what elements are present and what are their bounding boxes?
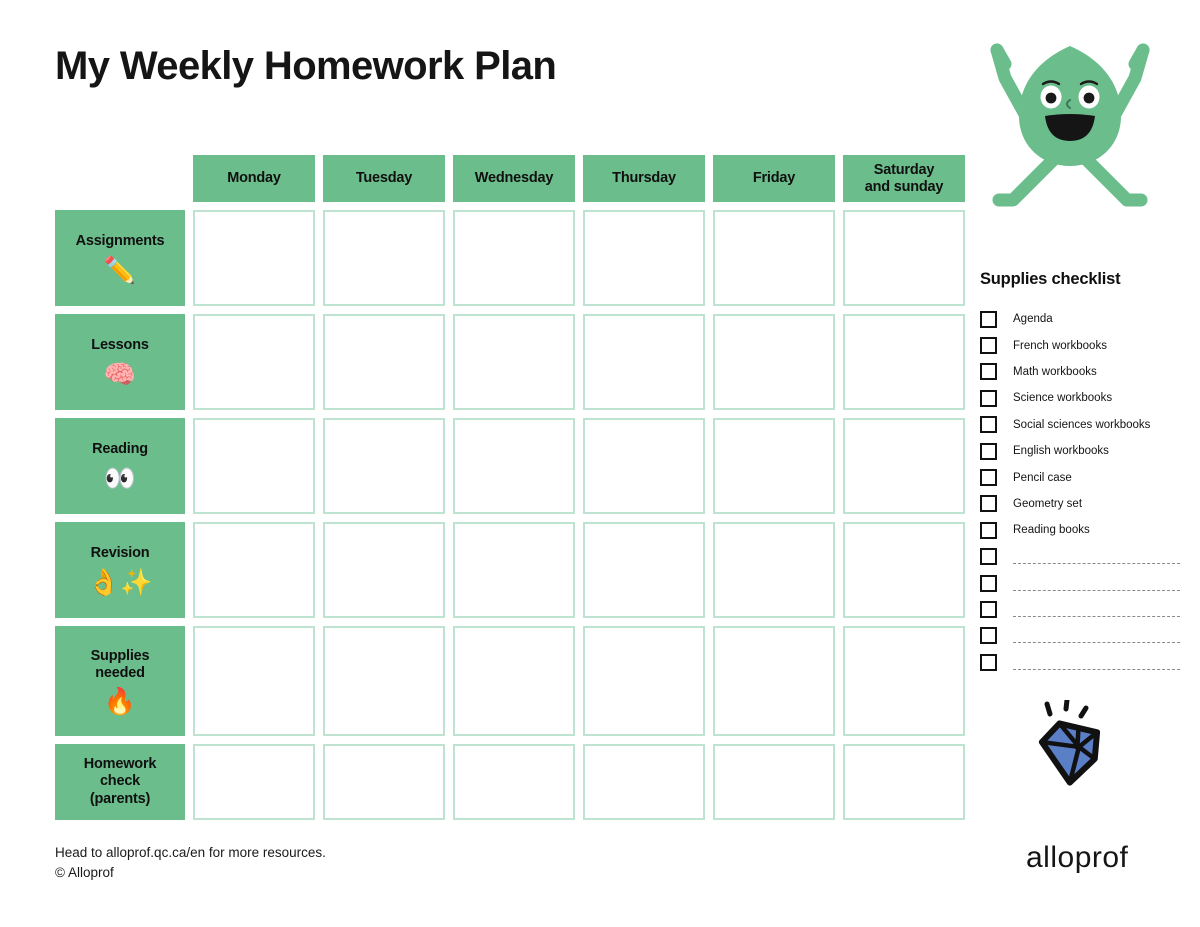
diamond-gem-icon xyxy=(1022,700,1122,795)
row-label-text: Revision xyxy=(91,545,150,562)
planner-cell[interactable] xyxy=(843,626,965,736)
checklist-title: Supplies checklist xyxy=(980,270,1180,289)
checkbox-icon[interactable] xyxy=(980,548,997,565)
planner-cell[interactable] xyxy=(713,744,835,820)
planner-cell[interactable] xyxy=(323,418,445,514)
ok-hand-sparkles-emoji: 👌✨ xyxy=(88,569,153,595)
planner-row-revision: Revision 👌✨ xyxy=(55,522,965,618)
row-label-lessons: Lessons 🧠 xyxy=(55,314,185,410)
day-header-weekend: Saturdayand sunday xyxy=(843,155,965,202)
checklist-item-blank[interactable] xyxy=(980,570,1180,596)
planner-cell[interactable] xyxy=(583,418,705,514)
diamond-decoration xyxy=(1022,700,1122,795)
checklist-item-label: English workbooks xyxy=(1013,445,1109,457)
checklist-item-label: Agenda xyxy=(1013,313,1053,325)
planner-cell[interactable] xyxy=(713,522,835,618)
planner-cell[interactable] xyxy=(843,314,965,410)
planner-cell[interactable] xyxy=(583,626,705,736)
alloprof-wordmark-icon: alloprof xyxy=(1026,838,1162,878)
row-label-text: Lessons xyxy=(91,337,148,354)
checkbox-icon[interactable] xyxy=(980,601,997,618)
planner-cell[interactable] xyxy=(323,744,445,820)
row-label-revision: Revision 👌✨ xyxy=(55,522,185,618)
checkbox-icon[interactable] xyxy=(980,311,997,328)
checklist-item-label: Reading books xyxy=(1013,524,1090,536)
checklist-item-geometry-set[interactable]: Geometry set xyxy=(980,491,1180,517)
day-header-monday: Monday xyxy=(193,155,315,202)
write-in-line[interactable] xyxy=(1013,642,1180,643)
mascot-icon xyxy=(975,28,1165,213)
planner-cell[interactable] xyxy=(193,626,315,736)
checklist-item-blank[interactable] xyxy=(980,649,1180,675)
row-label-supplies-needed: Suppliesneeded 🔥 xyxy=(55,626,185,736)
write-in-line[interactable] xyxy=(1013,563,1180,564)
planner-cell[interactable] xyxy=(323,210,445,306)
day-header-label: Wednesday xyxy=(475,170,554,187)
checklist-item-agenda[interactable]: Agenda xyxy=(980,306,1180,332)
planner-cell[interactable] xyxy=(323,522,445,618)
planner-row-supplies-needed: Suppliesneeded 🔥 xyxy=(55,626,965,736)
logo-text: alloprof xyxy=(1026,841,1129,874)
checkbox-icon[interactable] xyxy=(980,522,997,539)
checklist-item-label: Geometry set xyxy=(1013,498,1082,510)
planner-cell[interactable] xyxy=(713,418,835,514)
planner-cell[interactable] xyxy=(193,314,315,410)
planner-cell[interactable] xyxy=(713,626,835,736)
planner-cell[interactable] xyxy=(193,744,315,820)
checklist-item-label: Math workbooks xyxy=(1013,366,1097,378)
checklist-item-english-workbooks[interactable]: English workbooks xyxy=(980,438,1180,464)
checklist-item-french-workbooks[interactable]: French workbooks xyxy=(980,332,1180,358)
checklist-item-label: Social sciences workbooks xyxy=(1013,419,1150,431)
checklist-item-label: French workbooks xyxy=(1013,340,1107,352)
checkbox-icon[interactable] xyxy=(980,469,997,486)
checklist-item-blank[interactable] xyxy=(980,623,1180,649)
planner-cell[interactable] xyxy=(193,210,315,306)
planner-cell[interactable] xyxy=(843,418,965,514)
day-header-label: Tuesday xyxy=(356,170,412,187)
planner-cell[interactable] xyxy=(453,626,575,736)
checklist-item-blank[interactable] xyxy=(980,596,1180,622)
checkbox-icon[interactable] xyxy=(980,363,997,380)
checkbox-icon[interactable] xyxy=(980,495,997,512)
planner-cell[interactable] xyxy=(583,314,705,410)
planner-cell[interactable] xyxy=(453,314,575,410)
checklist-item-label: Science workbooks xyxy=(1013,392,1112,404)
planner-cell[interactable] xyxy=(843,522,965,618)
planner-cell[interactable] xyxy=(843,744,965,820)
checkbox-icon[interactable] xyxy=(980,337,997,354)
row-label-text: Assignments xyxy=(76,233,165,250)
checkbox-icon[interactable] xyxy=(980,654,997,671)
page-title: My Weekly Homework Plan xyxy=(55,44,556,89)
planner-header-row: Monday Tuesday Wednesday Thursday Friday… xyxy=(55,155,965,202)
checklist-item-reading-books[interactable]: Reading books xyxy=(980,517,1180,543)
planner-cell[interactable] xyxy=(453,522,575,618)
planner-cell[interactable] xyxy=(193,522,315,618)
planner-row-assignments: Assignments ✏️ xyxy=(55,210,965,306)
checkbox-icon[interactable] xyxy=(980,390,997,407)
write-in-line[interactable] xyxy=(1013,590,1180,591)
checkbox-icon[interactable] xyxy=(980,627,997,644)
day-header-label: Monday xyxy=(227,170,281,187)
weekly-planner-grid: Monday Tuesday Wednesday Thursday Friday… xyxy=(55,155,965,828)
row-label-assignments: Assignments ✏️ xyxy=(55,210,185,306)
footer: Head to alloprof.qc.ca/en for more resou… xyxy=(55,843,326,882)
planner-cell[interactable] xyxy=(323,626,445,736)
checklist-item-pencil-case[interactable]: Pencil case xyxy=(980,464,1180,490)
write-in-line[interactable] xyxy=(1013,669,1180,670)
planner-cell[interactable] xyxy=(583,744,705,820)
footer-line-copyright: © Alloprof xyxy=(55,863,326,883)
checklist-item-label: Pencil case xyxy=(1013,472,1072,484)
row-label-reading: Reading 👀 xyxy=(55,418,185,514)
planner-cell[interactable] xyxy=(713,314,835,410)
supplies-checklist: Supplies checklist Agenda French workboo… xyxy=(980,270,1180,675)
day-header-friday: Friday xyxy=(713,155,835,202)
fire-emoji: 🔥 xyxy=(104,688,136,714)
day-header-wednesday: Wednesday xyxy=(453,155,575,202)
day-header-thursday: Thursday xyxy=(583,155,705,202)
pencil-emoji: ✏️ xyxy=(104,257,136,283)
planner-cell[interactable] xyxy=(713,210,835,306)
planner-cell[interactable] xyxy=(323,314,445,410)
brain-emoji: 🧠 xyxy=(104,361,136,387)
day-header-label: Saturdayand sunday xyxy=(865,162,944,195)
row-label-text: Suppliesneeded xyxy=(91,648,150,682)
planner-cell[interactable] xyxy=(193,418,315,514)
planner-cell[interactable] xyxy=(843,210,965,306)
row-label-homework-check: Homeworkcheck(parents) xyxy=(55,744,185,820)
checklist-item-social-sciences-workbooks[interactable]: Social sciences workbooks xyxy=(980,412,1180,438)
day-header-label: Thursday xyxy=(612,170,676,187)
checkbox-icon[interactable] xyxy=(980,575,997,592)
planner-cell[interactable] xyxy=(453,744,575,820)
checklist-item-science-workbooks[interactable]: Science workbooks xyxy=(980,385,1180,411)
row-label-text: Reading xyxy=(92,441,148,458)
alloprof-logo: alloprof xyxy=(1026,838,1162,878)
day-header-tuesday: Tuesday xyxy=(323,155,445,202)
checkbox-icon[interactable] xyxy=(980,443,997,460)
eyes-emoji: 👀 xyxy=(104,465,136,491)
footer-line-resources: Head to alloprof.qc.ca/en for more resou… xyxy=(55,843,326,863)
checklist-item-math-workbooks[interactable]: Math workbooks xyxy=(980,359,1180,385)
planner-cell[interactable] xyxy=(453,418,575,514)
row-label-text: Homeworkcheck(parents) xyxy=(84,756,157,807)
planner-cell[interactable] xyxy=(583,522,705,618)
write-in-line[interactable] xyxy=(1013,616,1180,617)
planner-row-lessons: Lessons 🧠 xyxy=(55,314,965,410)
day-header-label: Friday xyxy=(753,170,795,187)
checkbox-icon[interactable] xyxy=(980,416,997,433)
mascot-illustration xyxy=(975,28,1165,213)
planner-row-reading: Reading 👀 xyxy=(55,418,965,514)
planner-cell[interactable] xyxy=(453,210,575,306)
planner-cell[interactable] xyxy=(583,210,705,306)
checklist-item-blank[interactable] xyxy=(980,544,1180,570)
planner-row-homework-check: Homeworkcheck(parents) xyxy=(55,744,965,820)
grid-corner-spacer xyxy=(55,155,185,202)
